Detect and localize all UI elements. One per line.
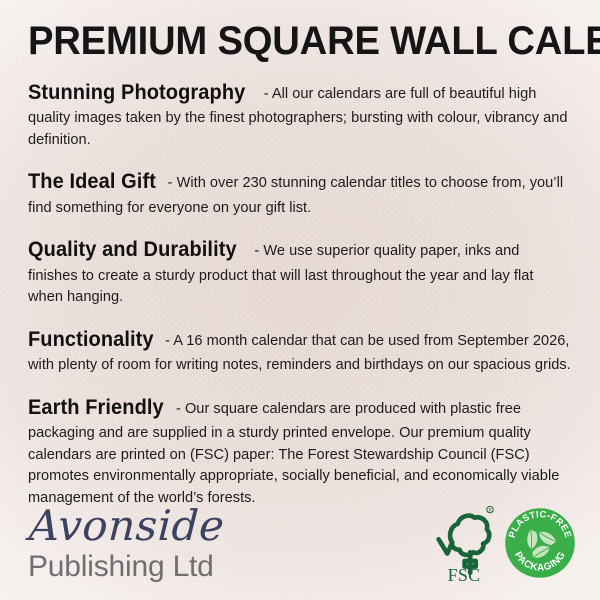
feature-text: Functionality- A 16 month calendar that … xyxy=(28,324,572,377)
feature-list: Stunning Photography- All our calendars … xyxy=(28,77,572,509)
feature-item-earth-friendly: Earth Friendly- Our square calendars are… xyxy=(28,392,572,509)
feature-dash: - xyxy=(262,86,269,102)
registered-trademark-icon: R xyxy=(487,506,493,513)
feature-dash: - xyxy=(166,175,173,191)
footer: Avonside Publishing Ltd R FS xyxy=(28,500,576,586)
content-area: PREMIUM SQUARE WALL CALENDARS Stunning P… xyxy=(0,0,600,509)
feature-heading: Earth Friendly xyxy=(28,392,164,424)
certification-badges: R FSC xyxy=(433,504,576,582)
plastic-free-packaging-icon: PLASTIC-FREE PACKAGING xyxy=(504,507,576,579)
brand-subtitle: Publishing Ltd xyxy=(28,552,223,582)
page-title: PREMIUM SQUARE WALL CALENDARS xyxy=(28,0,548,62)
svg-text:FSC: FSC xyxy=(448,565,481,582)
feature-text: Earth Friendly- Our square calendars are… xyxy=(28,392,572,509)
feature-text: Stunning Photography- All our calendars … xyxy=(28,77,572,151)
feature-dash: - xyxy=(252,243,259,259)
fsc-logo-icon: R FSC xyxy=(433,504,495,582)
feature-item-quality-and-durability: Quality and Durability- We use superior … xyxy=(28,234,572,308)
feature-dash: - xyxy=(163,333,170,349)
feature-item-functionality: Functionality- A 16 month calendar that … xyxy=(28,324,572,377)
feature-item-the-ideal-gift: The Ideal Gift- With over 230 stunning c… xyxy=(28,166,572,219)
product-info-panel: PREMIUM SQUARE WALL CALENDARS Stunning P… xyxy=(0,0,600,600)
feature-dash: - xyxy=(174,401,181,417)
avonside-logo: Avonside Publishing Ltd xyxy=(28,505,223,582)
feature-heading: Stunning Photography xyxy=(28,77,245,109)
feature-heading: The Ideal Gift xyxy=(28,166,156,198)
feature-item-stunning-photography: Stunning Photography- All our calendars … xyxy=(28,77,572,151)
brand-name: Avonside xyxy=(28,505,226,547)
feature-text: Quality and Durability- We use superior … xyxy=(28,234,572,308)
feature-text: The Ideal Gift- With over 230 stunning c… xyxy=(28,166,572,219)
feature-heading: Functionality xyxy=(28,324,154,356)
feature-heading: Quality and Durability xyxy=(28,234,237,266)
